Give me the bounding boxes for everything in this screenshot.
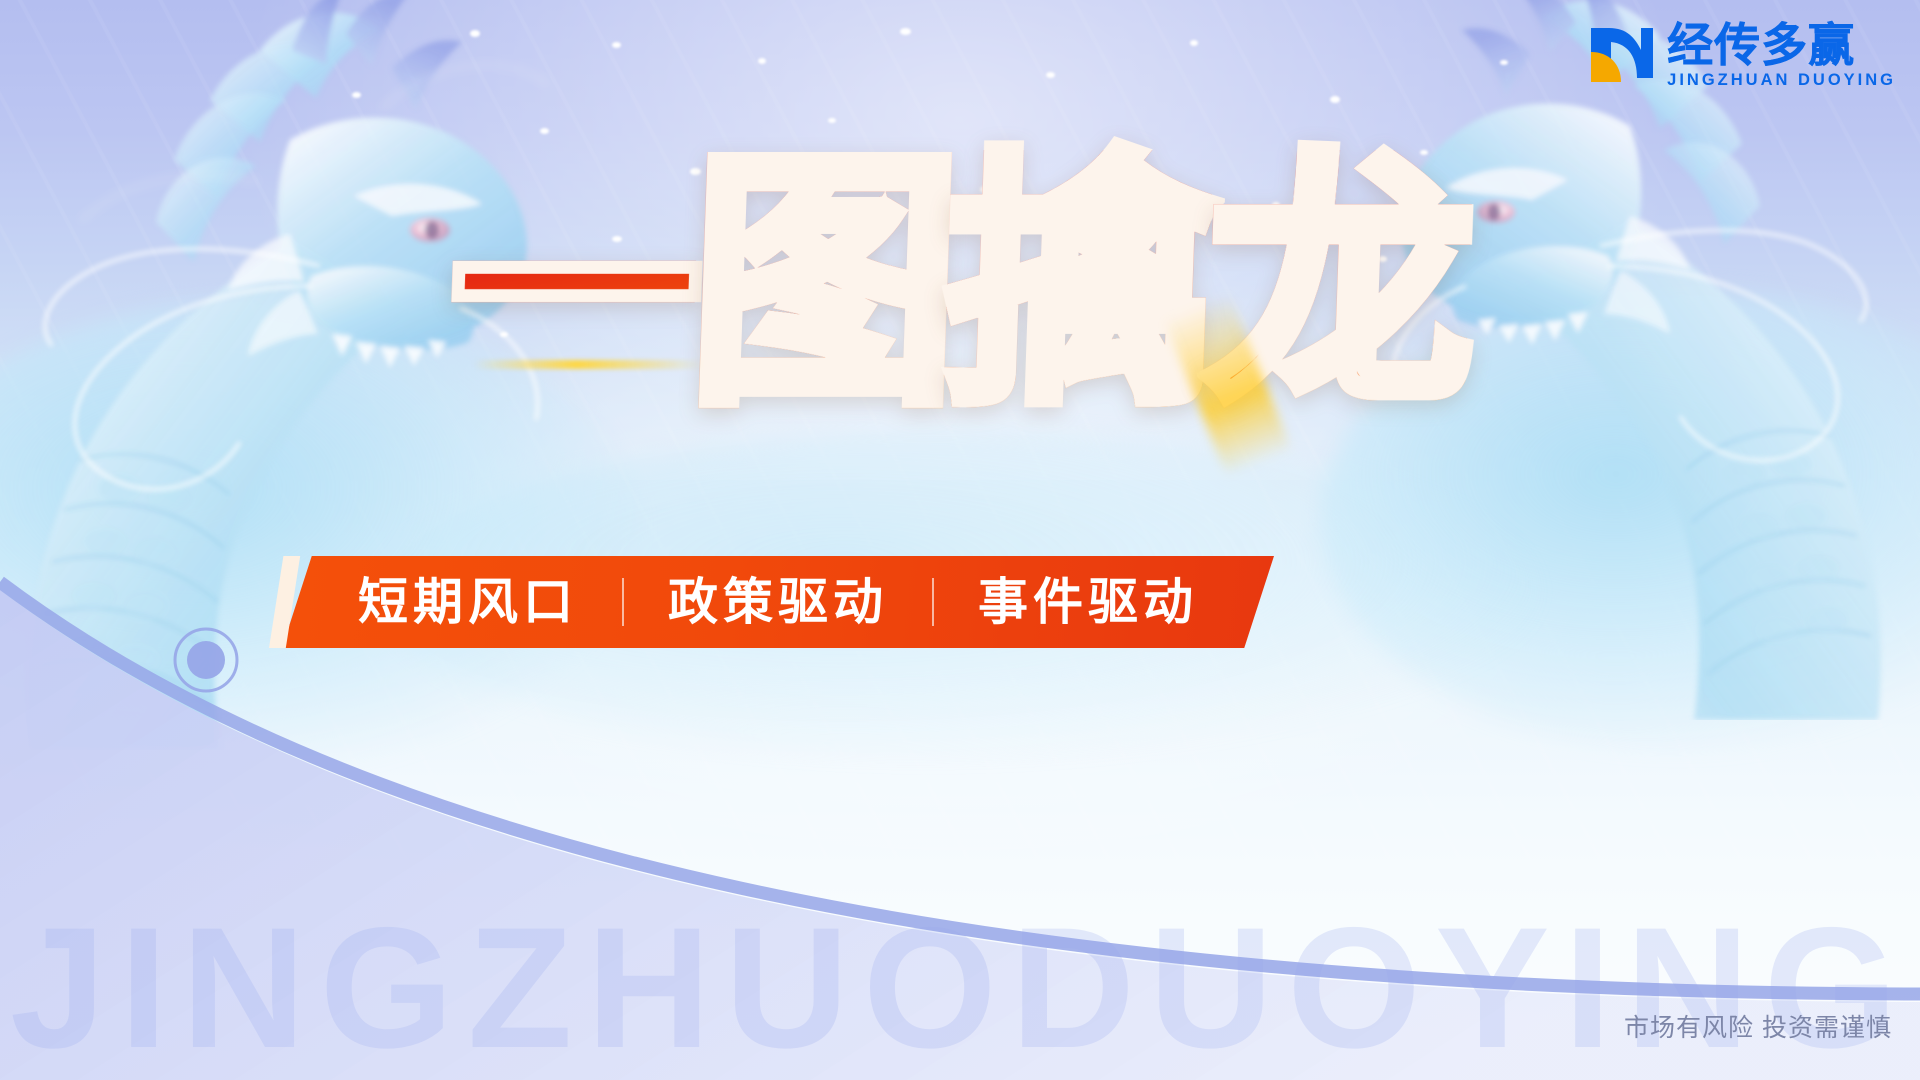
background-watermark: JINGZHUODUOYING (10, 902, 1911, 1074)
title-char-2: 图 (686, 150, 957, 418)
bottom-curve-decoration (0, 560, 1920, 1080)
banner-canvas: JINGZHUODUOYING 经传多赢 JINGZHUAN DUOYING 一… (0, 0, 1920, 1080)
ribbon-item-3: 事件驱动 (934, 577, 1242, 627)
ribbon-background (282, 556, 1274, 648)
ribbon-item-2: 政策驱动 (624, 577, 932, 627)
feature-ribbon: 短期风口 政策驱动 事件驱动 (282, 556, 1274, 648)
hero-title: 一 图 擒 龙 (0, 150, 1920, 418)
top-glow (210, 0, 1710, 480)
title-char-1: 一 (447, 168, 700, 418)
ice-dragon-right-illustration (1350, 0, 1920, 720)
sparkle-particles (0, 0, 1920, 1080)
logo-english-name: JINGZHUAN DUOYING (1667, 71, 1896, 89)
arc-node-marker (168, 622, 244, 698)
ribbon-item-list: 短期风口 政策驱动 事件驱动 (282, 556, 1274, 648)
brand-logo[interactable]: 经传多赢 JINGZHUAN DUOYING (1589, 22, 1896, 89)
title-glow-accent-1 (473, 360, 703, 369)
light-rays (0, 0, 1920, 1080)
title-glow-accent-2 (1164, 293, 1293, 477)
hero-title-inner: 一 图 擒 龙 (451, 150, 1469, 418)
center-glow (310, 240, 1610, 880)
dragon-body-mist-right (1320, 290, 1920, 750)
dragon-body-mist-center (380, 430, 1540, 760)
ice-dragon-left-illustration (0, 0, 580, 750)
logo-chinese-name: 经传多赢 (1667, 22, 1896, 69)
ribbon-item-1: 短期风口 (314, 577, 622, 627)
ribbon-left-accent (269, 556, 309, 648)
risk-disclaimer: 市场有风险 投资需谨慎 (1624, 1008, 1892, 1044)
dragon-body-mist-left (0, 300, 640, 770)
title-char-4: 龙 (1202, 150, 1473, 418)
title-char-3: 擒 (942, 150, 1213, 418)
ribbon-divider-1 (622, 578, 624, 626)
logo-mark-icon (1589, 22, 1655, 84)
ribbon-divider-2 (932, 578, 934, 626)
logo-text-block: 经传多赢 JINGZHUAN DUOYING (1667, 22, 1896, 89)
